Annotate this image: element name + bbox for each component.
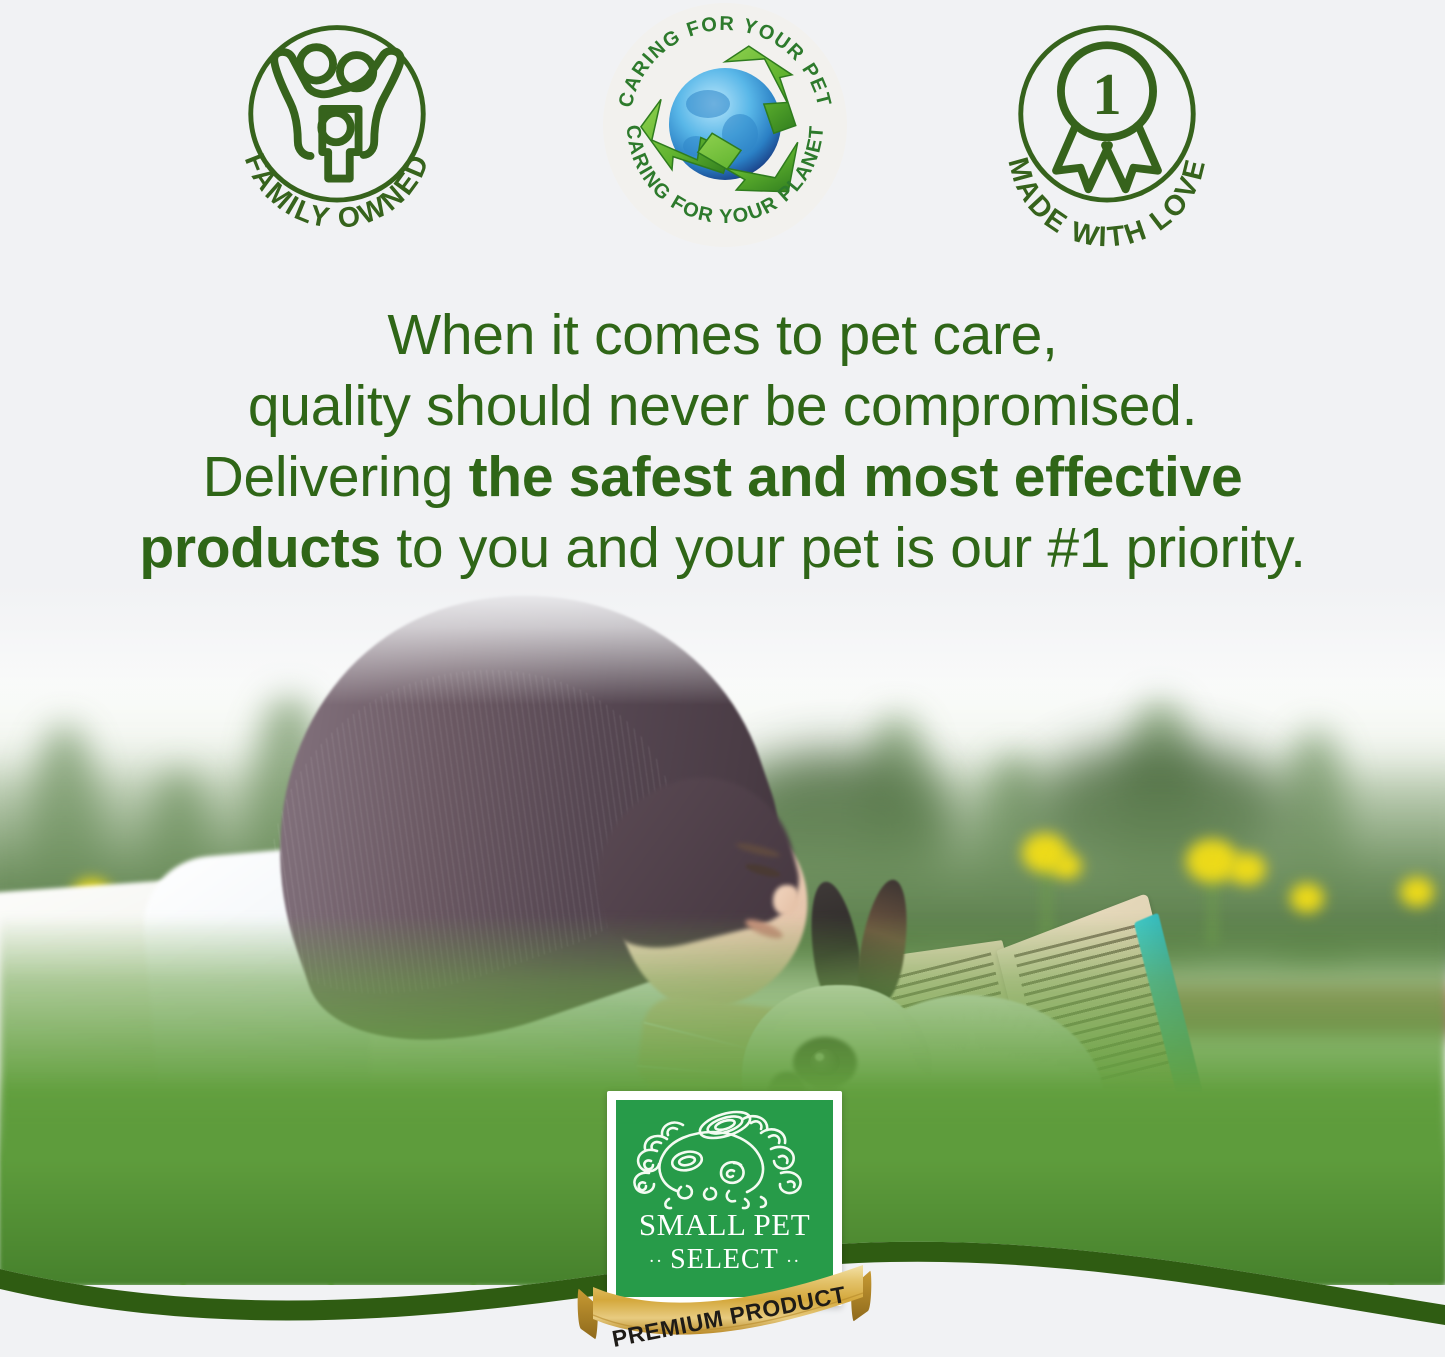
badge-number: 1 [1092, 62, 1121, 127]
trust-badge-row: FAMILY OWNED [0, 0, 1445, 255]
headline-line-3-normal: Delivering [203, 445, 469, 509]
swirl-rabbit-icon [621, 1099, 821, 1211]
headline: When it comes to pet care, quality shoul… [0, 300, 1445, 584]
headline-line-3-bold: the safest and most effective [469, 445, 1243, 509]
logo-line-1: SMALL PET [607, 1209, 842, 1240]
daffodil [1228, 853, 1266, 885]
badge-made-with-love-label: MADE WITH LOVE [1001, 154, 1212, 254]
family-figures-icon [274, 47, 401, 178]
premium-ribbon: PREMIUM PRODUCT [573, 1253, 876, 1357]
headline-line-1: When it comes to pet care, [0, 300, 1445, 371]
badge-made-with-love: 1 MADE WITH LOVE [982, 8, 1232, 253]
headline-line-3: Delivering the safest and most effective [0, 442, 1445, 513]
daffodil [1400, 877, 1434, 907]
headline-line-2: quality should never be compromised. [0, 371, 1445, 442]
headline-line-4-bold: products [139, 516, 380, 580]
photo-top-fade [0, 585, 1445, 705]
daffodil [1290, 883, 1324, 913]
promo-page: FAMILY OWNED [0, 0, 1445, 1357]
badge-family-owned: FAMILY OWNED [212, 8, 462, 253]
badge-caring-planet: CARING FOR YOUR PET CARING FOR YOUR PLAN… [600, 0, 850, 250]
badge-family-owned-label: FAMILY OWNED [238, 149, 437, 236]
headline-line-4: products to you and your pet is our #1 p… [0, 513, 1445, 584]
headline-line-4-normal: to you and your pet is our #1 priority. [381, 516, 1306, 580]
daffodil [1052, 853, 1082, 879]
